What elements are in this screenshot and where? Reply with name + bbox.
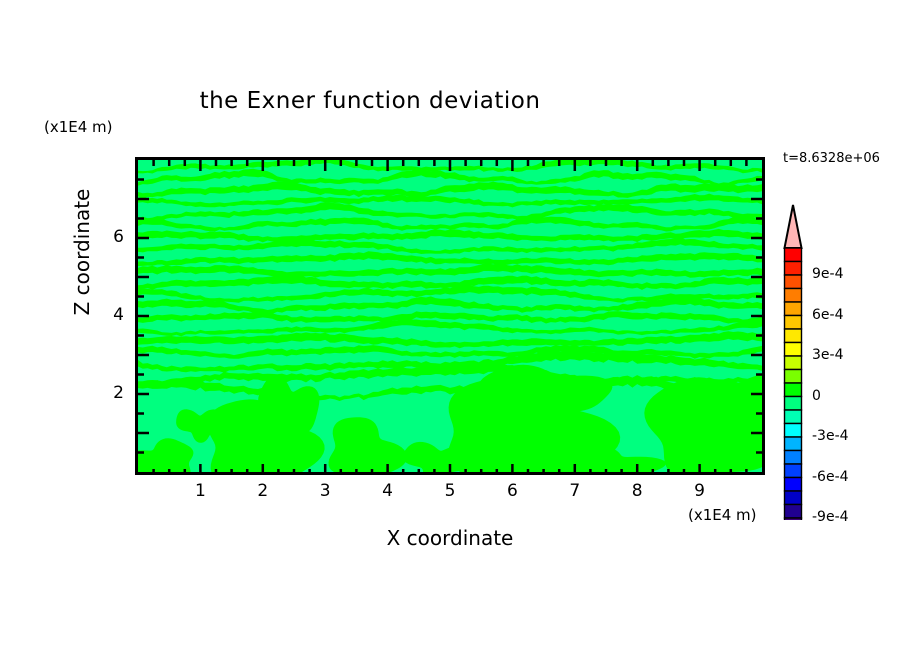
x-tick-label: 3 bbox=[313, 481, 337, 501]
colorbar-band bbox=[785, 329, 802, 343]
colorbar-band bbox=[785, 491, 802, 505]
colorbar-band bbox=[785, 464, 802, 478]
colorbar-band bbox=[785, 451, 802, 465]
x-tick-label: 6 bbox=[500, 481, 524, 501]
colorbar-tick-label: 6e-4 bbox=[812, 307, 843, 323]
colorbar-tick-label: 9e-4 bbox=[812, 266, 843, 282]
y-tick-label: 6 bbox=[104, 227, 124, 247]
colorbar-band bbox=[785, 410, 802, 424]
colorbar-band bbox=[785, 262, 802, 276]
x-tick-label: 8 bbox=[625, 481, 649, 501]
y-tick-label: 4 bbox=[104, 305, 124, 325]
colorbar-band bbox=[785, 397, 802, 411]
colorbar-band bbox=[785, 302, 802, 316]
timestamp-annotation: t=8.6328e+06 bbox=[783, 151, 880, 166]
colorbar-band bbox=[785, 343, 802, 357]
colorbar-tick-label: 3e-4 bbox=[812, 347, 843, 363]
y-axis-title: Z coordinate bbox=[70, 157, 94, 347]
x-tick-label: 1 bbox=[188, 481, 212, 501]
colorbar-band bbox=[785, 275, 802, 289]
colorbar-band bbox=[785, 424, 802, 438]
colorbar bbox=[780, 200, 806, 520]
colorbar-band bbox=[785, 437, 802, 451]
colorbar-band bbox=[785, 316, 802, 330]
colorbar-tick-label: -6e-4 bbox=[812, 469, 849, 485]
colorbar-band bbox=[785, 356, 802, 370]
colorbar-tick-label: -3e-4 bbox=[812, 428, 849, 444]
colorbar-tick-label: -9e-4 bbox=[812, 509, 849, 525]
colorbar-over-arrow bbox=[785, 205, 802, 248]
x-tick-label: 7 bbox=[563, 481, 587, 501]
colorbar-band bbox=[785, 518, 802, 520]
x-tick-label: 5 bbox=[438, 481, 462, 501]
x-tick-label: 9 bbox=[688, 481, 712, 501]
colorbar-band bbox=[785, 289, 802, 303]
colorbar-band bbox=[785, 505, 802, 519]
x-tick-label: 4 bbox=[376, 481, 400, 501]
x-axis-title: X coordinate bbox=[135, 526, 765, 550]
colorbar-band bbox=[785, 370, 802, 384]
x-axis-unit-label: (x1E4 m) bbox=[688, 506, 757, 524]
contour-field bbox=[138, 160, 762, 472]
figure-canvas: the Exner function deviation (x1E4 m) (x… bbox=[0, 0, 904, 654]
colorbar-band bbox=[785, 248, 802, 262]
page-title: the Exner function deviation bbox=[0, 88, 740, 114]
colorbar-swatches bbox=[780, 200, 806, 520]
y-tick-label: 2 bbox=[104, 383, 124, 403]
y-axis-unit-label: (x1E4 m) bbox=[44, 118, 113, 136]
colorbar-band bbox=[785, 383, 802, 397]
colorbar-band bbox=[785, 478, 802, 492]
contour-plot-area bbox=[135, 157, 765, 475]
x-tick-label: 2 bbox=[251, 481, 275, 501]
colorbar-tick-label: 0 bbox=[812, 388, 821, 404]
